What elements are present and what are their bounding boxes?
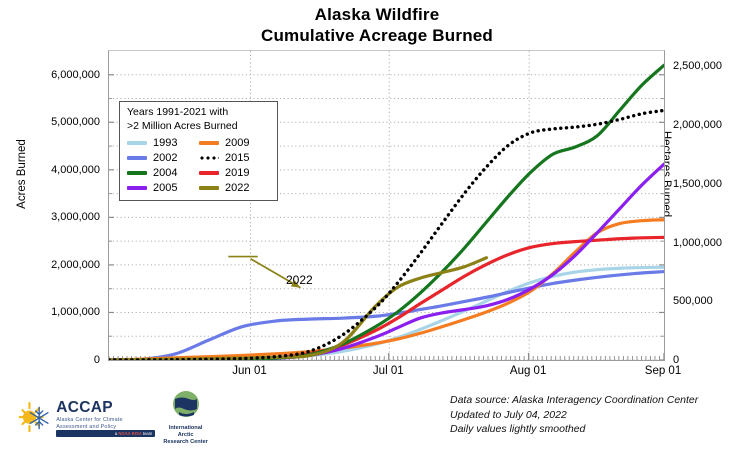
- accap-logo: ACCAP Alaska Center for Climate Assessme…: [18, 392, 208, 444]
- legend-item-2022[interactable]: 2022: [199, 180, 271, 195]
- legend-label-2019: 2019: [225, 167, 249, 179]
- footer-updated: Updated to July 04, 2022: [450, 408, 750, 423]
- legend-title-line-2: >2 Million Acres Burned: [127, 120, 271, 134]
- title-line-1: Alaska Wildfire: [0, 4, 754, 25]
- y-tick-right-2: 1,000,000: [673, 237, 722, 249]
- y-tick-right-4: 2,000,000: [673, 119, 722, 131]
- logo-noaa-risa-bar: a NOAA RISA team: [56, 430, 155, 437]
- logo-bar-em: NOAA RISA: [118, 431, 141, 436]
- title-line-2: Cumulative Acreage Burned: [0, 25, 754, 46]
- x-tick-1: Jul 01: [373, 365, 404, 377]
- plot-svg: [109, 51, 664, 360]
- globe-icon: [169, 390, 203, 420]
- legend-swatch-2009: [199, 141, 219, 145]
- y-tick-right-3: 1,500,000: [673, 178, 722, 190]
- y-tick-left-5: 5,000,000: [51, 116, 100, 128]
- legend-label-1993: 1993: [153, 137, 177, 149]
- y-tick-right-1: 500,000: [673, 295, 713, 307]
- legend-swatch-2015: [199, 156, 219, 160]
- legend-item-2019[interactable]: 2019: [199, 165, 271, 180]
- logo-subtitle-line-2: Assessment and Policy: [56, 424, 155, 431]
- legend-label-2022: 2022: [225, 182, 249, 194]
- legend-item-2005[interactable]: 2005: [127, 180, 199, 195]
- y-tick-left-2: 2,000,000: [51, 259, 100, 271]
- iarc-line-2: Research Center: [163, 439, 208, 446]
- y-axis-ticks-right: 0500,0001,000,0001,500,0002,000,0002,500…: [673, 50, 753, 361]
- chart-container: Acres Burned Hectares Burned 01,000,0002…: [0, 44, 754, 384]
- legend-item-2015[interactable]: 2015: [199, 150, 271, 165]
- legend-label-2009: 2009: [225, 137, 249, 149]
- footer-note: Data source: Alaska Interagency Coordina…: [450, 393, 750, 437]
- y-tick-left-1: 1,000,000: [51, 306, 100, 318]
- x-tick-3: Sep 01: [645, 365, 681, 377]
- series-line-2002: [109, 272, 664, 360]
- legend-swatch-2004: [127, 171, 147, 175]
- legend-label-2002: 2002: [153, 152, 177, 164]
- y-tick-left-3: 3,000,000: [51, 211, 100, 223]
- x-tick-0: Jun 01: [232, 365, 267, 377]
- logo-subtitle-line-1: Alaska Center for Climate: [56, 417, 155, 424]
- y-tick-left-0: 0: [94, 354, 100, 366]
- y-axis-ticks-left: 01,000,0002,000,0003,000,0004,000,0005,0…: [0, 50, 100, 361]
- logo-acronym: ACCAP: [56, 399, 155, 417]
- legend-label-2004: 2004: [153, 167, 177, 179]
- legend-items: 19932009200220152004201920052022: [127, 135, 271, 195]
- annotation-2022-label: 2022: [286, 273, 313, 287]
- legend-swatch-2002: [127, 156, 147, 160]
- y-tick-left-6: 6,000,000: [51, 69, 100, 81]
- legend-swatch-2005: [127, 186, 147, 190]
- legend-swatch-2019: [199, 171, 219, 175]
- y-tick-left-4: 4,000,000: [51, 164, 100, 176]
- legend-label-2005: 2005: [153, 182, 177, 194]
- sun-snowflake-icon: [18, 398, 53, 438]
- x-tick-2: Aug 01: [510, 365, 546, 377]
- legend-item-2009[interactable]: 2009: [199, 135, 271, 150]
- plot-area: [108, 50, 665, 361]
- footer-data-source: Data source: Alaska Interagency Coordina…: [450, 393, 750, 408]
- legend-label-2015: 2015: [225, 152, 249, 164]
- logo-bar-post: team: [142, 431, 152, 436]
- legend-item-2004[interactable]: 2004: [127, 165, 199, 180]
- legend-item-2002[interactable]: 2002: [127, 150, 199, 165]
- chart-legend: Years 1991-2021 with >2 Million Acres Bu…: [119, 101, 278, 201]
- legend-swatch-2022: [199, 186, 219, 190]
- legend-title-line-1: Years 1991-2021 with: [127, 106, 271, 120]
- y-tick-right-5: 2,500,000: [673, 60, 722, 72]
- legend-swatch-1993: [127, 141, 147, 145]
- x-axis-ticks: Jun 01Jul 01Aug 01Sep 01: [108, 361, 665, 383]
- iarc-line-1: International Arctic: [163, 425, 208, 439]
- legend-item-1993[interactable]: 1993: [127, 135, 199, 150]
- page-title: Alaska Wildfire Cumulative Acreage Burne…: [0, 4, 754, 46]
- footer-smoothing: Daily values lightly smoothed: [450, 422, 750, 437]
